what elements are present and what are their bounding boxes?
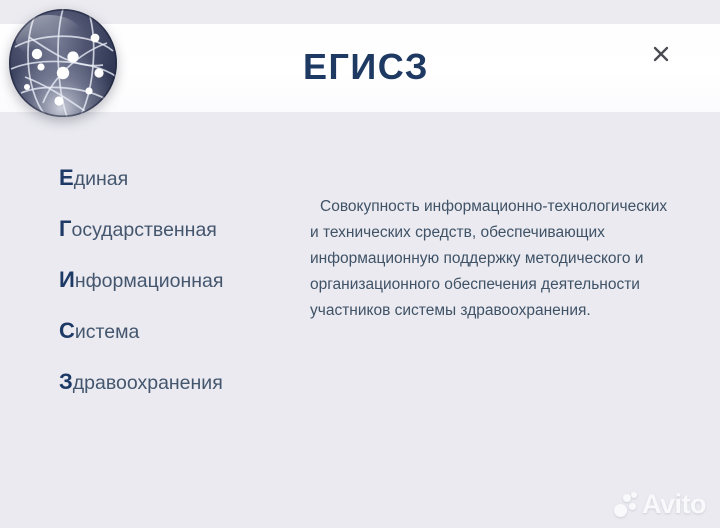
acronym-item-sistema: Система <box>59 316 289 367</box>
avito-watermark: Avito <box>614 491 706 518</box>
acronym-capital: С <box>59 318 75 343</box>
acronym-rest: дравоохранения <box>73 372 223 394</box>
acronym-item-gosudarstvennaya: Государственная <box>59 214 289 265</box>
close-button[interactable] <box>646 39 676 69</box>
globe-network-icon <box>7 7 119 119</box>
acronym-rest: осударственная <box>71 219 216 241</box>
avito-dots-icon <box>614 492 639 518</box>
definition-text: Совокупность информационно-технологическ… <box>310 194 670 324</box>
avito-watermark-label: Avito <box>642 491 706 518</box>
close-icon <box>651 44 671 64</box>
acronym-rest: истема <box>75 321 139 343</box>
acronym-rest: нформационная <box>75 270 224 292</box>
acronym-item-informatsionnaya: Информационная <box>59 265 289 316</box>
acronym-capital: Г <box>59 216 71 241</box>
slide-root: ЕГИСЗ Единая Государственная Информацион… <box>0 0 720 528</box>
acronym-rest: диная <box>74 168 128 190</box>
acronym-list: Единая Государственная Информационная Си… <box>59 163 289 418</box>
acronym-item-zdravoohraneniya: Здравоохранения <box>59 367 289 418</box>
page-title: ЕГИСЗ <box>303 47 429 87</box>
acronym-capital: И <box>59 267 75 292</box>
acronym-capital: Е <box>59 165 74 190</box>
acronym-item-edinaya: Единая <box>59 163 289 214</box>
acronym-capital: З <box>59 369 73 394</box>
